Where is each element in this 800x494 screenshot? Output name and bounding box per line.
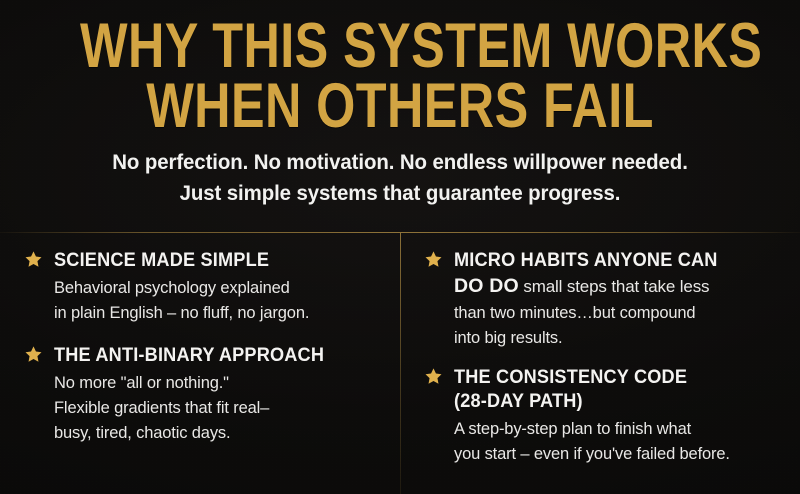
list-item-text: Behavioral psychology explained in plain… (54, 275, 378, 325)
page-title-line-1: WHY THIS SYSTEM WORKS (80, 16, 720, 76)
subtitle-line-1: No perfection. No motivation. No endless… (20, 147, 780, 178)
list-item-text-line: small steps that take less (523, 277, 709, 296)
list-item: MICRO HABITS ANYONE CAN DO DO small step… (424, 248, 790, 350)
poster-root: WHY THIS SYSTEM WORKS WHEN OTHERS FAIL N… (0, 0, 800, 494)
list-item-text: No more "all or nothing." Flexible gradi… (54, 370, 378, 445)
list-item-text-line: you start – even if you've failed before… (454, 444, 730, 463)
page-title-line-2: WHEN OTHERS FAIL (80, 76, 720, 136)
subtitle-line-2: Just simple systems that guarantee progr… (20, 178, 780, 209)
list-item-heading-second-line: (28-DAY PATH) (454, 389, 766, 413)
list-item: THE ANTI-BINARY APPROACH No more "all or… (24, 343, 388, 445)
list-item-body: THE CONSISTENCY CODE (28-DAY PATH) A ste… (454, 365, 790, 466)
right-column: MICRO HABITS ANYONE CAN DO DO small step… (400, 233, 800, 494)
star-icon (24, 345, 43, 364)
star-icon (424, 250, 443, 269)
vertical-divider (400, 233, 401, 494)
list-item-body: MICRO HABITS ANYONE CAN DO DO small step… (454, 248, 790, 350)
list-item-text-line: busy, tired, chaotic days. (54, 423, 230, 442)
list-item-text-line: A step-by-step plan to finish what (454, 419, 691, 438)
list-item-text: A step-by-step plan to finish what you s… (454, 416, 780, 466)
list-item-heading: MICRO HABITS ANYONE CAN (454, 248, 766, 272)
list-item-text: than two minutes…but compound into big r… (454, 300, 780, 350)
list-item: SCIENCE MADE SIMPLE Behavioral psycholog… (24, 248, 388, 325)
list-item-body: SCIENCE MADE SIMPLE Behavioral psycholog… (54, 248, 388, 325)
header: WHY THIS SYSTEM WORKS WHEN OTHERS FAIL N… (0, 0, 800, 209)
list-item-text-line: Flexible gradients that fit real– (54, 398, 269, 417)
list-item-body: THE ANTI-BINARY APPROACH No more "all or… (54, 343, 388, 445)
list-item-heading-continuation: DO DO (454, 275, 519, 297)
left-column: SCIENCE MADE SIMPLE Behavioral psycholog… (0, 233, 400, 494)
list-item-text-line: than two minutes…but compound (454, 303, 695, 322)
list-item-heading: THE CONSISTENCY CODE (454, 365, 766, 389)
list-item-text-line: into big results. (454, 328, 562, 347)
list-item: THE CONSISTENCY CODE (28-DAY PATH) A ste… (424, 365, 790, 466)
list-item-heading: THE ANTI-BINARY APPROACH (54, 343, 365, 367)
list-item-heading-run: DO DO small steps that take less (454, 274, 790, 300)
list-item-heading: SCIENCE MADE SIMPLE (54, 248, 365, 272)
list-item-text-line: in plain English – no fluff, no jargon. (54, 303, 309, 322)
star-icon (424, 367, 443, 386)
list-item-text-line: Behavioral psychology explained (54, 278, 290, 297)
star-icon (24, 250, 43, 269)
list-item-text-line: No more "all or nothing." (54, 373, 229, 392)
